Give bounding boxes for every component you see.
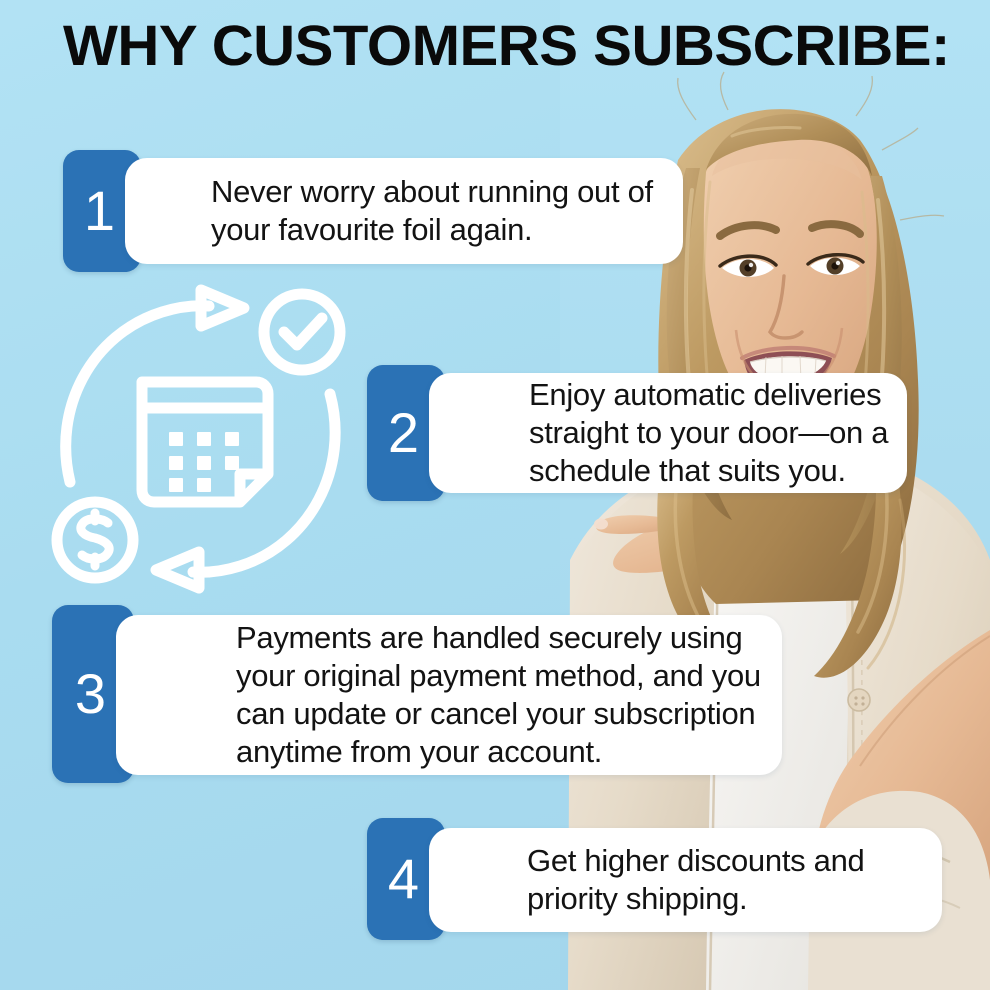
check-circle-icon	[264, 294, 340, 370]
benefit-text-2: Enjoy automatic deliveries straight to y…	[529, 376, 888, 489]
calendar-icon	[142, 382, 268, 502]
benefit-text-3: Payments are handled securely using your…	[236, 619, 761, 770]
subscription-cycle-icon	[44, 282, 356, 594]
benefit-card-4: Get higher discounts and priority shippi…	[429, 828, 942, 932]
page-title: WHY CUSTOMERS SUBSCRIBE:	[63, 18, 961, 75]
benefit-card-2: Enjoy automatic deliveries straight to y…	[429, 373, 907, 493]
benefit-text-1: Never worry about running out of your fa…	[211, 173, 653, 249]
benefit-number-3: 3	[75, 666, 111, 722]
benefit-number-4: 4	[388, 851, 424, 907]
benefit-number-2: 2	[388, 405, 424, 461]
benefit-text-4: Get higher discounts and priority shippi…	[527, 842, 864, 918]
benefit-item-1: 1 Never worry about running out of your …	[63, 150, 623, 275]
infographic-canvas: WHY CUSTOMERS SUBSCRIBE:	[0, 0, 990, 990]
benefit-item-2: 2 Enjoy automatic deliveries straight to…	[367, 365, 847, 505]
benefit-item-4: 4 Get higher discounts and priority ship…	[367, 818, 882, 943]
benefit-number-1: 1	[84, 183, 120, 239]
benefit-item-3: 3 Payments are handled securely using yo…	[52, 605, 732, 785]
benefit-card-3: Payments are handled securely using your…	[116, 615, 782, 775]
dollar-coin-icon	[57, 502, 133, 578]
benefit-card-1: Never worry about running out of your fa…	[125, 158, 683, 264]
